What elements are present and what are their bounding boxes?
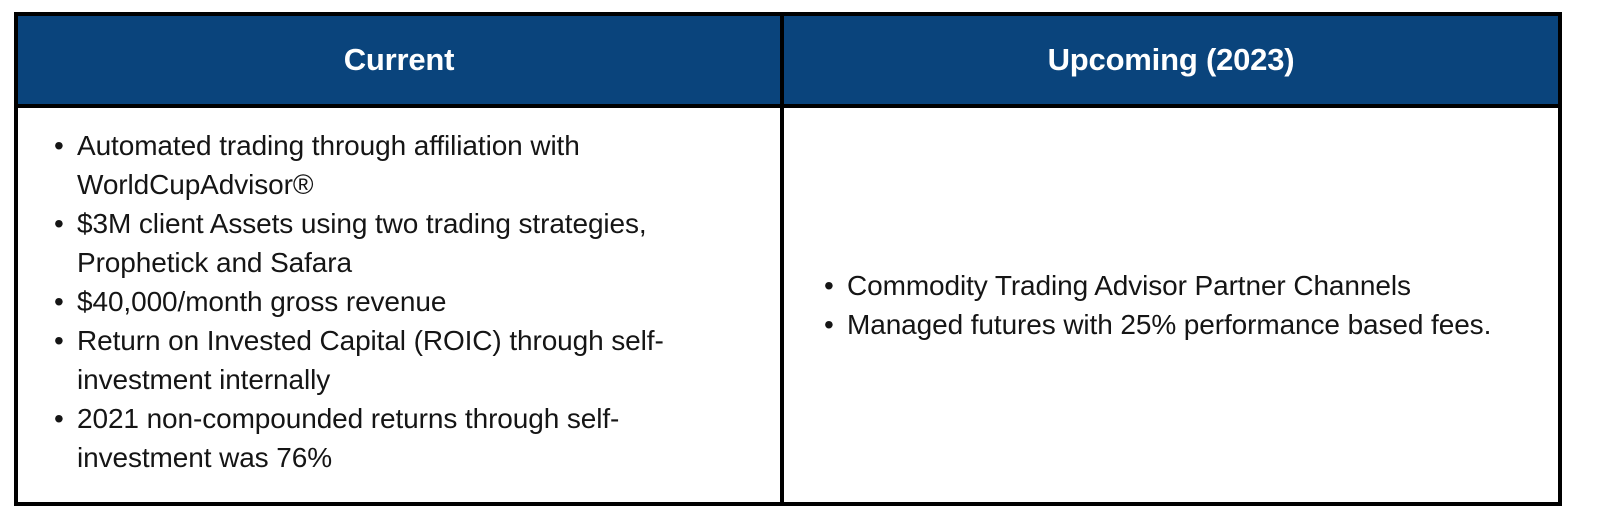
list-item: $40,000/month gross revenue [44,282,697,321]
bullet-list-current: Automated trading through affiliation wi… [44,126,754,477]
table-header-row: Current Upcoming (2023) [18,16,1558,108]
table-body-row: Automated trading through affiliation wi… [18,108,1558,502]
list-item: 2021 non-compounded returns through self… [44,399,697,477]
column-header-title-upcoming: Upcoming (2023) [1048,43,1295,77]
table-cell-upcoming: Commodity Trading Advisor Partner Channe… [784,108,1558,502]
table-cell-current: Automated trading through affiliation wi… [18,108,784,502]
table-header-cell-upcoming: Upcoming (2023) [784,16,1558,104]
list-item: Return on Invested Capital (ROIC) throug… [44,321,697,399]
comparison-table: Current Upcoming (2023) Automated tradin… [14,12,1562,506]
list-item: $3M client Assets using two trading stra… [44,204,697,282]
slide-canvas: Current Upcoming (2023) Automated tradin… [0,0,1600,527]
list-item: Automated trading through affiliation wi… [44,126,697,204]
list-item: Managed futures with 25% performance bas… [814,305,1532,344]
bullet-list-upcoming: Commodity Trading Advisor Partner Channe… [814,266,1532,344]
table-header-cell-current: Current [18,16,784,104]
list-item: Commodity Trading Advisor Partner Channe… [814,266,1532,305]
column-header-title-current: Current [344,43,455,77]
